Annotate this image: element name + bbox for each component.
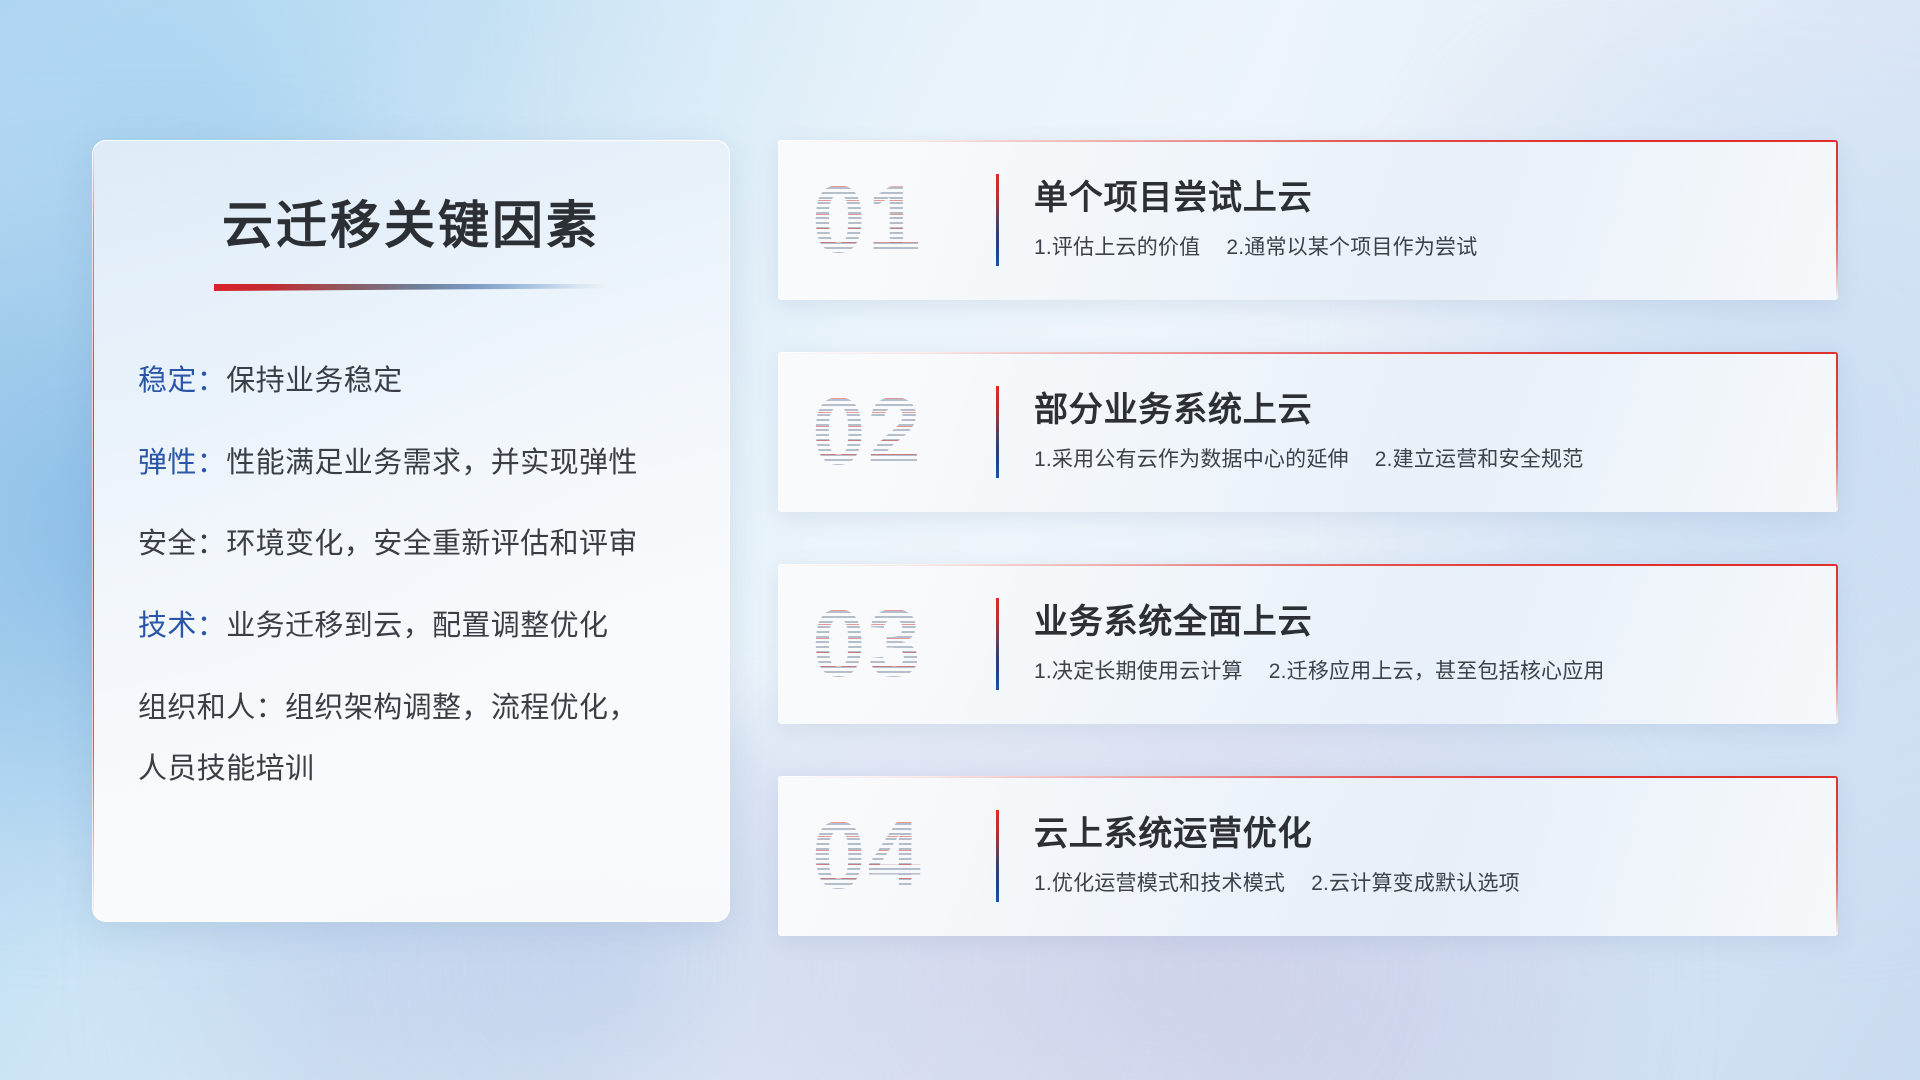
card-point: 2.迁移应用上云，甚至包括核心应用 — [1269, 660, 1605, 683]
card-title: 云上系统运营优化 — [1034, 814, 1810, 854]
card-divider-gradient — [996, 174, 999, 266]
stage-card[interactable]: 0101单个项目尝试上云1.评估上云的价值2.通常以某个项目作为尝试 — [778, 140, 1838, 300]
card-title: 业务系统全面上云 — [1034, 602, 1810, 642]
key-factor-label: 稳定： — [138, 365, 226, 397]
stage-cards-list: 0101单个项目尝试上云1.评估上云的价值2.通常以某个项目作为尝试0202部分… — [778, 140, 1838, 936]
card-point: 1.采用公有云作为数据中心的延伸 — [1034, 448, 1349, 471]
card-point: 2.通常以某个项目作为尝试 — [1226, 236, 1477, 259]
slide-stage: 云迁移关键因素 稳定：保持业务稳定弹性：性能满足业务需求，并实现弹性安全：环境变… — [0, 0, 1920, 1080]
card-right-accent-rule — [1836, 776, 1838, 936]
key-factors-panel: 云迁移关键因素 稳定：保持业务稳定弹性：性能满足业务需求，并实现弹性安全：环境变… — [92, 140, 730, 922]
key-factor-line: 稳定：保持业务稳定 — [138, 363, 684, 401]
key-factor-line: 组织和人：组织架构调整，流程优化， — [138, 690, 684, 728]
key-factor-line: 技术：业务迁移到云，配置调整优化 — [138, 608, 684, 646]
key-factor-label: 安全： — [138, 528, 226, 560]
key-factor-text: 组织架构调整，流程优化， — [285, 692, 638, 724]
card-right-accent-rule — [1836, 140, 1838, 300]
card-right-accent-rule — [1836, 352, 1838, 512]
card-body: 云上系统运营优化1.优化运营模式和技术模式2.云计算变成默认选项 — [1034, 776, 1810, 936]
card-body: 单个项目尝试上云1.评估上云的价值2.通常以某个项目作为尝试 — [1034, 140, 1810, 300]
key-factors-list: 稳定：保持业务稳定弹性：性能满足业务需求，并实现弹性安全：环境变化，安全重新评估… — [92, 363, 730, 789]
card-index-watermark: 04 — [812, 808, 923, 904]
card-index-watermark: 03 — [812, 596, 923, 692]
key-factor-label: 组织和人： — [138, 692, 285, 724]
card-title: 部分业务系统上云 — [1034, 390, 1810, 430]
stage-card[interactable]: 0303业务系统全面上云1.决定长期使用云计算2.迁移应用上云，甚至包括核心应用 — [778, 564, 1838, 724]
key-factor-text: 人员技能培训 — [138, 753, 314, 785]
stage-card[interactable]: 0404云上系统运营优化1.优化运营模式和技术模式2.云计算变成默认选项 — [778, 776, 1838, 936]
key-factor-label: 技术： — [138, 610, 226, 642]
card-index-watermark: 01 — [812, 172, 923, 268]
card-description: 1.评估上云的价值2.通常以某个项目作为尝试 — [1034, 234, 1810, 261]
card-point: 1.决定长期使用云计算 — [1034, 660, 1243, 683]
card-divider-gradient — [996, 810, 999, 902]
card-body: 部分业务系统上云1.采用公有云作为数据中心的延伸2.建立运营和安全规范 — [1034, 352, 1810, 512]
card-point: 2.建立运营和安全规范 — [1375, 448, 1584, 471]
card-point: 1.评估上云的价值 — [1034, 236, 1200, 259]
key-factor-text: 业务迁移到云，配置调整优化 — [226, 610, 608, 642]
card-divider-gradient — [996, 386, 999, 478]
title-underline-gradient — [214, 284, 608, 291]
card-title: 单个项目尝试上云 — [1034, 178, 1810, 218]
card-description: 1.采用公有云作为数据中心的延伸2.建立运营和安全规范 — [1034, 446, 1810, 473]
key-factor-label: 弹性： — [138, 447, 226, 479]
key-factor-text: 保持业务稳定 — [226, 365, 402, 397]
card-point: 2.云计算变成默认选项 — [1311, 872, 1520, 895]
card-right-accent-rule — [1836, 564, 1838, 724]
card-point: 1.优化运营模式和技术模式 — [1034, 872, 1285, 895]
page-title: 云迁移关键因素 — [92, 184, 730, 258]
card-description: 1.决定长期使用云计算2.迁移应用上云，甚至包括核心应用 — [1034, 658, 1810, 685]
key-factor-line: 人员技能培训 — [138, 751, 684, 789]
card-divider-gradient — [996, 598, 999, 690]
card-index-watermark: 02 — [812, 384, 923, 480]
key-factor-text: 环境变化，安全重新评估和评审 — [226, 528, 638, 560]
key-factor-line: 安全：环境变化，安全重新评估和评审 — [138, 526, 684, 564]
key-factor-line: 弹性：性能满足业务需求，并实现弹性 — [138, 445, 684, 483]
card-body: 业务系统全面上云1.决定长期使用云计算2.迁移应用上云，甚至包括核心应用 — [1034, 564, 1810, 724]
key-factor-text: 性能满足业务需求，并实现弹性 — [226, 447, 638, 479]
card-description: 1.优化运营模式和技术模式2.云计算变成默认选项 — [1034, 870, 1810, 897]
stage-card[interactable]: 0202部分业务系统上云1.采用公有云作为数据中心的延伸2.建立运营和安全规范 — [778, 352, 1838, 512]
